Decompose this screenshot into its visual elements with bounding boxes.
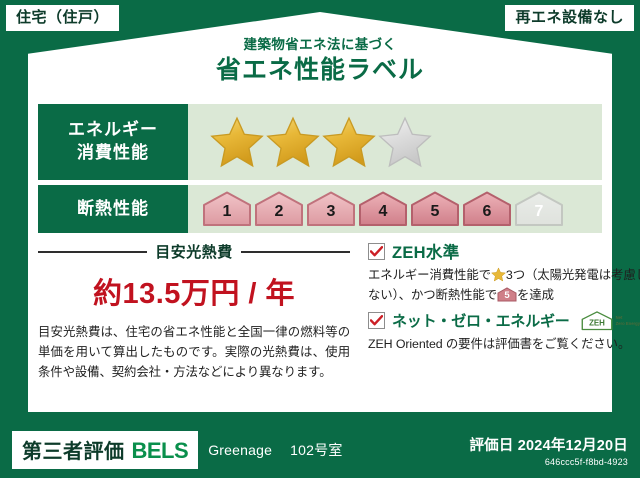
inline-chip-value: 5 bbox=[497, 288, 517, 303]
star-empty-icon bbox=[378, 115, 432, 169]
insulation-level-number: 6 bbox=[483, 203, 492, 221]
utility-cost-heading-text: 目安光熱費 bbox=[155, 241, 233, 262]
net-zero-energy-item: ネット・ゼロ・エネルギー ZEH Net Zero Energy House bbox=[368, 310, 640, 355]
evaluation-date: 評価日 2024年12月20日 bbox=[469, 434, 628, 455]
zeh-standard-title: ZEH水準 bbox=[392, 239, 460, 263]
zeh-logo-sub-line2: Zero Energy House bbox=[616, 321, 640, 326]
zeh-logo-subtext: Net Zero Energy House bbox=[616, 315, 640, 326]
insulation-level-scale: 1234567 bbox=[202, 190, 564, 228]
tag-renewable-equipment: 再エネ設備なし bbox=[505, 5, 634, 31]
tag-dwelling-type: 住宅（住戸） bbox=[6, 5, 119, 31]
insulation-level-number: 4 bbox=[379, 203, 388, 221]
inline-star-icon bbox=[491, 267, 506, 282]
star-filled-icon bbox=[210, 115, 264, 169]
insulation-level-number: 7 bbox=[535, 203, 544, 221]
insulation-level-chip-4: 4 bbox=[358, 190, 408, 228]
star-rating bbox=[210, 115, 432, 169]
insulation-level-chip-3: 3 bbox=[306, 190, 356, 228]
bels-badge: 第三者評価 BELS bbox=[12, 431, 198, 469]
insulation-level-number: 5 bbox=[431, 203, 440, 221]
zeh-standard-body: エネルギー消費性能で 3つ（太陽光発電は考慮しない）、かつ断熱性能で 5 を達成 bbox=[368, 266, 640, 306]
utility-cost-note: 目安光熱費は、住宅の省エネ性能と全国一律の燃料等の単価を用いて算出したものです。… bbox=[38, 322, 350, 382]
bels-badge-en: BELS bbox=[132, 438, 189, 464]
insulation-level-chip-2: 2 bbox=[254, 190, 304, 228]
zeh-column: ZEH水準 エネルギー消費性能で 3つ（太陽光発電は考慮しない）、かつ断熱性能で… bbox=[368, 239, 640, 411]
header-title: 省エネ性能ラベル bbox=[0, 55, 640, 86]
net-zero-energy-head: ネット・ゼロ・エネルギー ZEH Net Zero Energy House bbox=[368, 310, 640, 332]
property-info: Greenage 102号室 bbox=[208, 440, 342, 460]
zeh-house-logo-icon: ZEH bbox=[580, 310, 614, 332]
header-subtitle: 建築物省エネ法に基づく bbox=[0, 38, 640, 53]
rule-left bbox=[38, 251, 147, 253]
rule-right bbox=[241, 251, 350, 253]
energy-label-line1: エネルギー bbox=[68, 120, 158, 139]
energy-performance-label: 住宅（住戸） 再エネ設備なし 建築物省エネ法に基づく 省エネ性能ラベル エネルギ… bbox=[0, 0, 640, 478]
evaluation-info: 評価日 2024年12月20日 646ccc5f-f8bd-4923 bbox=[469, 434, 628, 467]
utility-cost-amount: 約13.5万円 / 年 bbox=[38, 270, 350, 312]
lower-section: 目安光熱費 約13.5万円 / 年 目安光熱費は、住宅の省エネ性能と全国一律の燃… bbox=[38, 239, 602, 411]
zeh-logo-sub-line1: Net bbox=[616, 315, 623, 320]
energy-performance-row: エネルギー 消費性能 bbox=[38, 104, 602, 180]
insulation-level-chip-7: 7 bbox=[514, 190, 564, 228]
evaluation-id: 646ccc5f-f8bd-4923 bbox=[469, 457, 628, 467]
svg-text:ZEH: ZEH bbox=[589, 318, 605, 327]
check-icon-zeh-standard[interactable] bbox=[368, 243, 385, 260]
energy-label-line2: 消費性能 bbox=[77, 143, 149, 162]
property-name: Greenage bbox=[208, 442, 272, 458]
star-filled-icon bbox=[322, 115, 376, 169]
property-room: 102号室 bbox=[290, 442, 342, 458]
zeh-logo: ZEH Net Zero Energy House bbox=[580, 310, 640, 332]
energy-performance-label-box: エネルギー 消費性能 bbox=[38, 104, 188, 180]
zeh-body-part-a: エネルギー消費性能で bbox=[368, 268, 491, 282]
net-zero-energy-title: ネット・ゼロ・エネルギー bbox=[392, 310, 570, 331]
insulation-level-chip-1: 1 bbox=[202, 190, 252, 228]
insulation-level-number: 1 bbox=[223, 203, 232, 221]
insulation-level-area: 1234567 bbox=[188, 185, 602, 233]
star-filled-icon bbox=[266, 115, 320, 169]
zeh-standard-item: ZEH水準 エネルギー消費性能で 3つ（太陽光発電は考慮しない）、かつ断熱性能で… bbox=[368, 239, 640, 306]
insulation-performance-row: 断熱性能 1234567 bbox=[38, 185, 602, 233]
utility-cost-column: 目安光熱費 約13.5万円 / 年 目安光熱費は、住宅の省エネ性能と全国一律の燃… bbox=[38, 239, 358, 411]
insulation-level-number: 2 bbox=[275, 203, 284, 221]
insulation-performance-label-box: 断熱性能 bbox=[38, 185, 188, 233]
zeh-body-part-c: を達成 bbox=[517, 288, 554, 302]
utility-cost-heading: 目安光熱費 bbox=[38, 241, 350, 262]
insulation-level-chip-5: 5 bbox=[410, 190, 460, 228]
label-content: エネルギー 消費性能 断熱性能 1234567 目安光熱費 bbox=[28, 96, 612, 412]
zeh-standard-head: ZEH水準 bbox=[368, 239, 640, 263]
inline-insulation-chip-icon: 5 bbox=[497, 287, 517, 302]
check-icon-net-zero-energy[interactable] bbox=[368, 312, 385, 329]
label-header: 建築物省エネ法に基づく 省エネ性能ラベル bbox=[0, 38, 640, 86]
bels-badge-jp: 第三者評価 bbox=[22, 435, 125, 464]
energy-performance-stars-area bbox=[188, 104, 602, 180]
insulation-level-chip-6: 6 bbox=[462, 190, 512, 228]
net-zero-energy-body: ZEH Oriented の要件は評価書をご覧ください。 bbox=[368, 335, 640, 355]
footer-bar: 第三者評価 BELS Greenage 102号室 評価日 2024年12月20… bbox=[0, 422, 640, 478]
insulation-level-number: 3 bbox=[327, 203, 336, 221]
